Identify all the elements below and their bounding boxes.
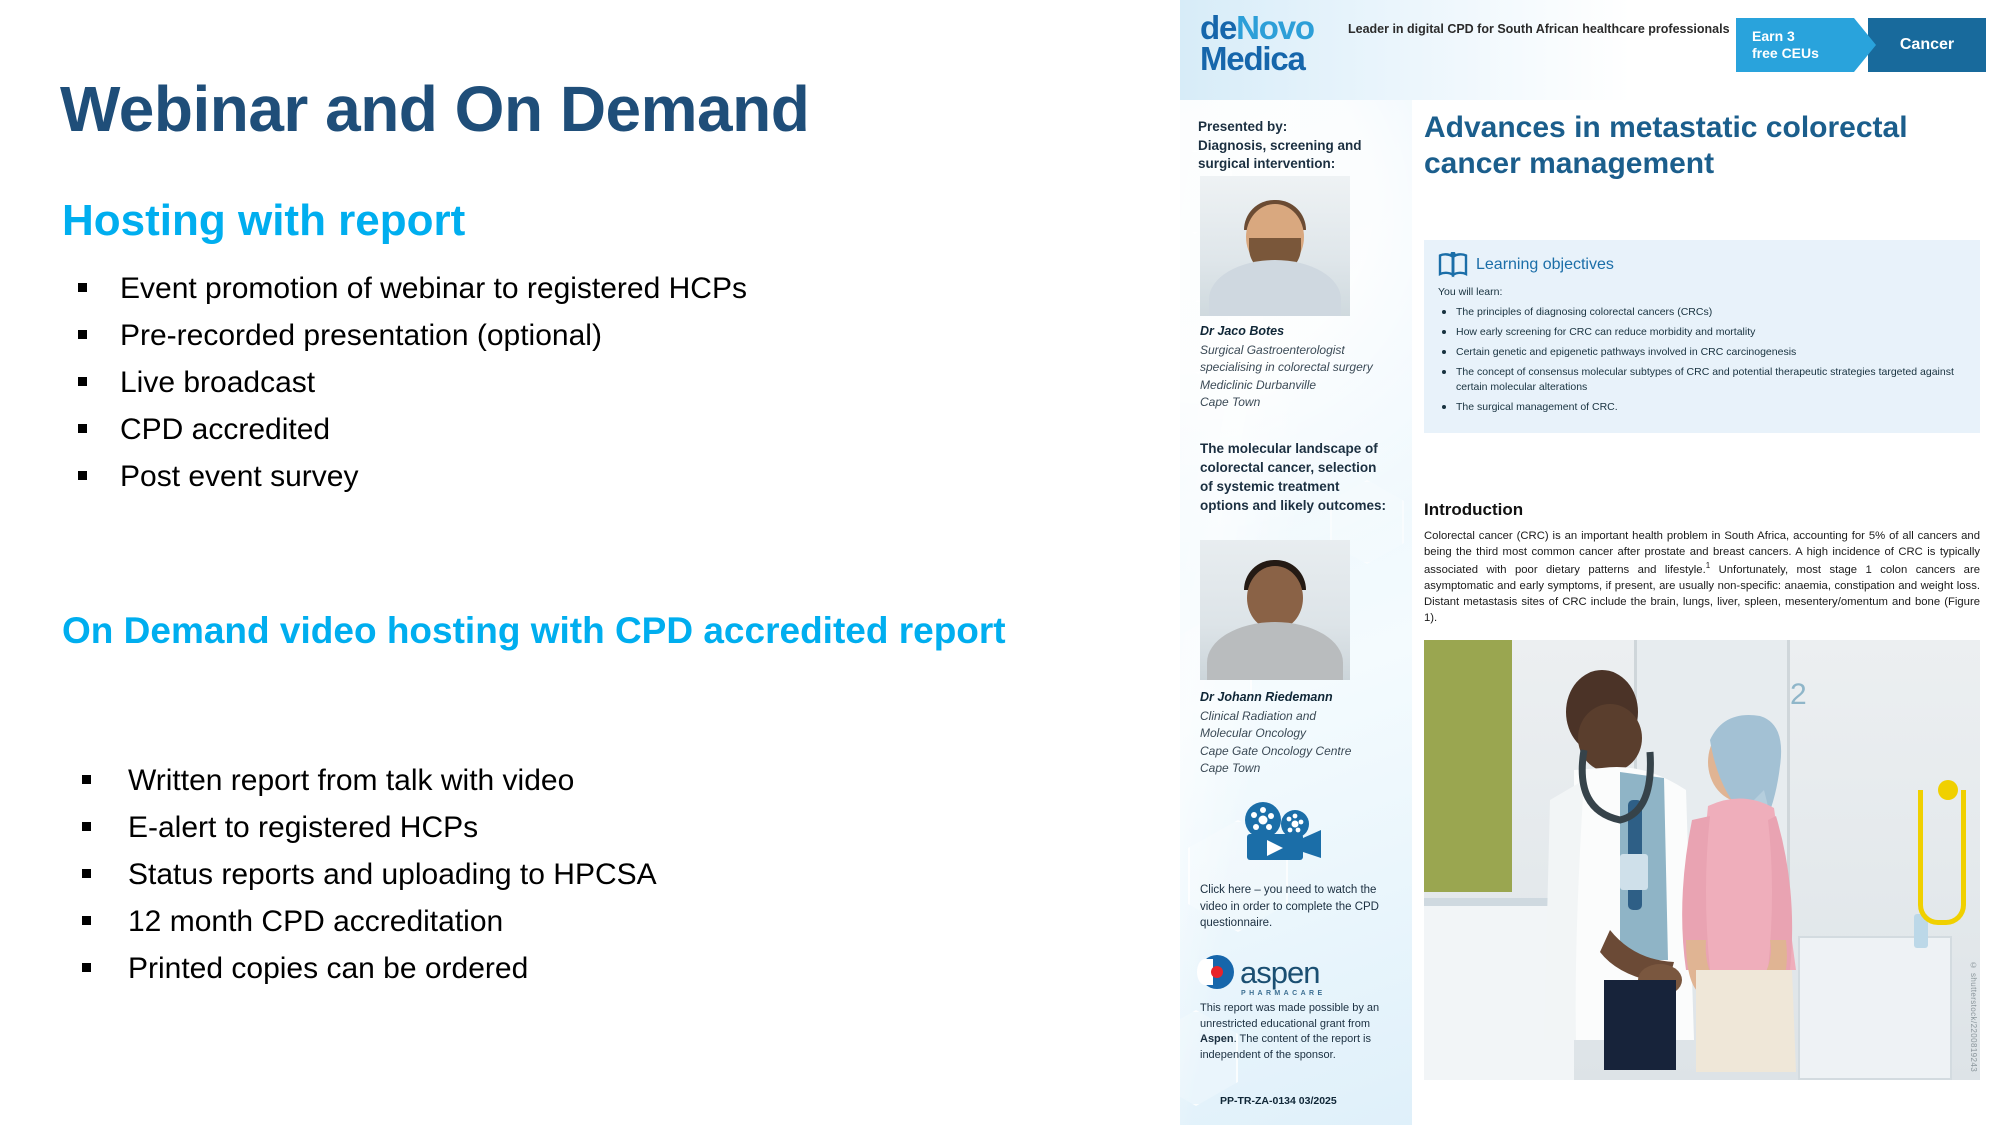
bullet-square-icon	[82, 869, 91, 878]
list-item-label: CPD accredited	[120, 413, 330, 446]
list-item-label: How early screening for CRC can reduce m…	[1456, 326, 1755, 338]
list-item: Printed copies can be ordered	[82, 948, 1082, 989]
list-item: Event promotion of webinar to registered…	[78, 268, 1078, 309]
disclaimer-part1: This report was made possible by an unre…	[1200, 1002, 1379, 1030]
bullet-dot-icon	[1442, 370, 1446, 374]
presenter-2-affiliation: Cape Gate Oncology Centre	[1200, 743, 1400, 760]
bullet-dot-icon	[1442, 405, 1446, 409]
document-code: PP-TR-ZA-0134 03/2025	[1220, 1095, 1337, 1107]
list-item: Status reports and uploading to HPCSA	[82, 854, 1082, 895]
list-item-label: Event promotion of webinar to registered…	[120, 272, 747, 305]
bullet-square-icon	[78, 330, 87, 339]
sponsor-name: aspen	[1240, 957, 1319, 988]
report-main-column: Advances in metastatic colorectal cancer…	[1412, 100, 2000, 1125]
list-item: The principles of diagnosing colorectal …	[1438, 305, 1966, 320]
video-click-note: Click here – you need to watch the video…	[1200, 882, 1396, 932]
presenter-2-city: Cape Town	[1200, 760, 1400, 777]
list-item: The concept of consensus molecular subty…	[1438, 365, 1966, 395]
list-item-label: Written report from talk with video	[128, 764, 574, 797]
learning-objectives-box: Learning objectives You will learn: The …	[1424, 240, 1980, 433]
presenter-2-details: Clinical Radiation and Molecular Oncolog…	[1200, 708, 1400, 778]
learning-objectives-title: Learning objectives	[1476, 256, 1614, 274]
open-book-icon	[1438, 252, 1468, 278]
on-demand-bullet-list: Written report from talk with video E-al…	[82, 760, 1082, 995]
bullet-square-icon	[82, 822, 91, 831]
figure-photo-doctor-patient: 2	[1424, 640, 1980, 1080]
list-item-label: Post event survey	[120, 460, 358, 493]
list-item: Pre-recorded presentation (optional)	[78, 315, 1078, 356]
photo-people-figures	[1424, 640, 1980, 1080]
cpd-badge-category: Cancer	[1868, 18, 1986, 72]
shoulders-shape	[1209, 260, 1341, 316]
list-item-label: The surgical management of CRC.	[1456, 401, 1618, 413]
list-item: CPD accredited	[78, 409, 1078, 450]
list-item: Written report from talk with video	[82, 760, 1082, 801]
video-camera-icon[interactable]	[1235, 800, 1325, 862]
presented-by-label: Presented by:	[1198, 118, 1398, 137]
bullet-square-icon	[82, 963, 91, 972]
bullet-square-icon	[78, 424, 87, 433]
list-item-label: The principles of diagnosing colorectal …	[1456, 306, 1712, 318]
presenter-2-role-line1: Clinical Radiation and	[1200, 708, 1400, 725]
bullet-square-icon	[78, 471, 87, 480]
header-tagline: Leader in digital CPD for South African …	[1348, 20, 1730, 39]
logo-text-medica: Medica	[1200, 43, 1332, 74]
topic-1-label: Diagnosis, screening and surgical interv…	[1198, 137, 1398, 174]
hosting-bullet-list: Event promotion of webinar to registered…	[78, 268, 1078, 503]
figure-doctor	[1544, 670, 1694, 1070]
bullet-dot-icon	[1442, 310, 1446, 314]
presenter-1-city: Cape Town	[1200, 394, 1400, 411]
presenter-2-photo	[1200, 540, 1350, 680]
face-shape	[1247, 566, 1303, 630]
bullet-dot-icon	[1442, 330, 1446, 334]
list-item-label: The concept of consensus molecular subty…	[1456, 366, 1954, 393]
disclaimer-sponsor-name: Aspen	[1200, 1033, 1234, 1045]
presenter-1-role-line1: Surgical Gastroenterologist	[1200, 342, 1400, 359]
aspen-logo-icon	[1200, 955, 1234, 989]
report-header: deNovo Medica Leader in digital CPD for …	[1180, 0, 2000, 100]
slide-left-panel: Webinar and On Demand Hosting with repor…	[0, 0, 1180, 1125]
bullet-square-icon	[78, 377, 87, 386]
cpd-badge-ceu-line1: Earn 3	[1752, 28, 1854, 46]
bullet-dot-icon	[1442, 350, 1446, 354]
list-item-label: E-alert to registered HCPs	[128, 811, 478, 844]
section-heading-on-demand: On Demand video hosting with CPD accredi…	[62, 608, 1092, 655]
report-title: Advances in metastatic colorectal cancer…	[1424, 110, 1944, 182]
introduction-heading: Introduction	[1424, 500, 1523, 520]
presenter-1-name: Dr Jaco Botes	[1200, 324, 1284, 338]
presenter-1-details: Surgical Gastroenterologist specialising…	[1200, 342, 1400, 412]
denovo-medica-logo: deNovo Medica	[1200, 12, 1332, 74]
bullet-square-icon	[82, 916, 91, 925]
presenter-2-role-line2: Molecular Oncology	[1200, 725, 1400, 742]
topic-2-label: The molecular landscape of colorectal ca…	[1200, 440, 1390, 516]
cpd-badge-ceu: Earn 3 free CEUs	[1736, 18, 1854, 72]
presenter-1-role-line2: specialising in colorectal surgery	[1200, 359, 1400, 376]
cpd-badge: Earn 3 free CEUs Cancer	[1736, 18, 1986, 72]
list-item-label: Pre-recorded presentation (optional)	[120, 319, 602, 352]
list-item: E-alert to registered HCPs	[82, 807, 1082, 848]
list-item: The surgical management of CRC.	[1438, 400, 1966, 415]
chevron-right-icon	[1854, 18, 1876, 72]
learning-objectives-list: The principles of diagnosing colorectal …	[1438, 305, 1966, 414]
list-item-label: Certain genetic and epigenetic pathways …	[1456, 346, 1796, 358]
list-item: Post event survey	[78, 456, 1078, 497]
list-item: Certain genetic and epigenetic pathways …	[1438, 345, 1966, 360]
shoulders-shape	[1207, 622, 1343, 680]
presenter-1-affiliation: Mediclinic Durbanville	[1200, 377, 1400, 394]
photo-credit: © shutterstock/2200819243	[1969, 961, 1978, 1072]
list-item-label: 12 month CPD accreditation	[128, 905, 503, 938]
page-title: Webinar and On Demand	[60, 72, 809, 146]
learning-objectives-lead: You will learn:	[1438, 286, 1966, 298]
presenter-1-photo	[1200, 176, 1350, 316]
presented-by-block: Presented by: Diagnosis, screening and s…	[1198, 118, 1398, 174]
bullet-square-icon	[82, 775, 91, 784]
section-heading-hosting: Hosting with report	[62, 196, 465, 246]
cpd-badge-ceu-line2: free CEUs	[1752, 45, 1854, 63]
report-preview-image: deNovo Medica Leader in digital CPD for …	[1180, 0, 2000, 1125]
list-item: 12 month CPD accreditation	[82, 901, 1082, 942]
introduction-paragraph: Colorectal cancer (CRC) is an important …	[1424, 528, 1980, 626]
list-item-label: Status reports and uploading to HPCSA	[128, 858, 657, 891]
sponsor-disclaimer: This report was made possible by an unre…	[1200, 1001, 1400, 1063]
sponsor-block: aspen PHARMACARE This report was made po…	[1200, 955, 1400, 1063]
list-item: How early screening for CRC can reduce m…	[1438, 325, 1966, 340]
figure-patient	[1682, 715, 1796, 1072]
list-item-label: Printed copies can be ordered	[128, 952, 528, 985]
presenter-2-name: Dr Johann Riedemann	[1200, 690, 1333, 704]
bullet-square-icon	[78, 283, 87, 292]
sponsor-subtitle: PHARMACARE	[1241, 990, 1400, 997]
list-item-label: Live broadcast	[120, 366, 315, 399]
list-item: Live broadcast	[78, 362, 1078, 403]
